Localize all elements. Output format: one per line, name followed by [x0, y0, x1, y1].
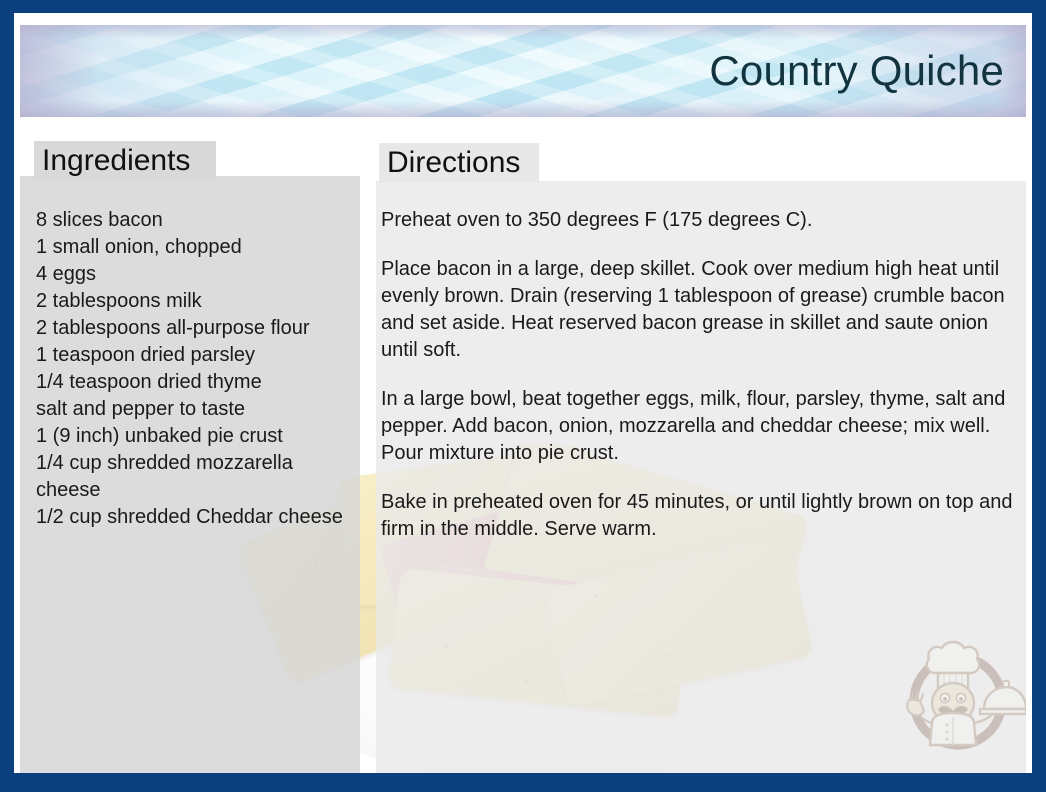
directions-heading-tab: Directions	[379, 143, 539, 183]
ingredients-heading-tab: Ingredients	[34, 141, 216, 181]
direction-step: Preheat oven to 350 degrees F (175 degre…	[381, 207, 1027, 234]
ingredient-item: 8 slices bacon	[36, 207, 352, 234]
ingredient-item: 1 (9 inch) unbaked pie crust	[36, 423, 352, 450]
direction-step: In a large bowl, beat together eggs, mil…	[381, 386, 1027, 467]
title-banner: Country Quiche	[20, 25, 1026, 117]
ingredient-item: 1 small onion, chopped	[36, 234, 352, 261]
card-inner: Country Quiche Ingredients Directions 8 …	[14, 13, 1032, 773]
direction-step: Place bacon in a large, deep skillet. Co…	[381, 256, 1027, 364]
chef-mascot-logo	[898, 629, 1026, 757]
recipe-card: Country Quiche Ingredients Directions 8 …	[0, 0, 1046, 792]
ingredient-item: 2 tablespoons milk	[36, 288, 352, 315]
ingredient-item: salt and pepper to taste	[36, 396, 352, 423]
ingredient-item: 1/2 cup shredded Cheddar cheese	[36, 504, 352, 531]
ingredients-heading-label: Ingredients	[42, 144, 190, 178]
ingredient-item: 1 teaspoon dried parsley	[36, 342, 352, 369]
ingredient-item: 1/4 teaspoon dried thyme	[36, 369, 352, 396]
page-title: Country Quiche	[709, 47, 1004, 95]
direction-step: Bake in preheated oven for 45 minutes, o…	[381, 489, 1027, 543]
ingredient-item: 2 tablespoons all-purpose flour	[36, 315, 352, 342]
ingredient-item: 4 eggs	[36, 261, 352, 288]
ingredient-list: 8 slices bacon1 small onion, chopped4 eg…	[36, 207, 352, 531]
ingredient-item: 1/4 cup shredded mozzarella cheese	[36, 450, 352, 504]
directions-body: Preheat oven to 350 degrees F (175 degre…	[381, 207, 1027, 565]
directions-heading-label: Directions	[387, 146, 520, 180]
